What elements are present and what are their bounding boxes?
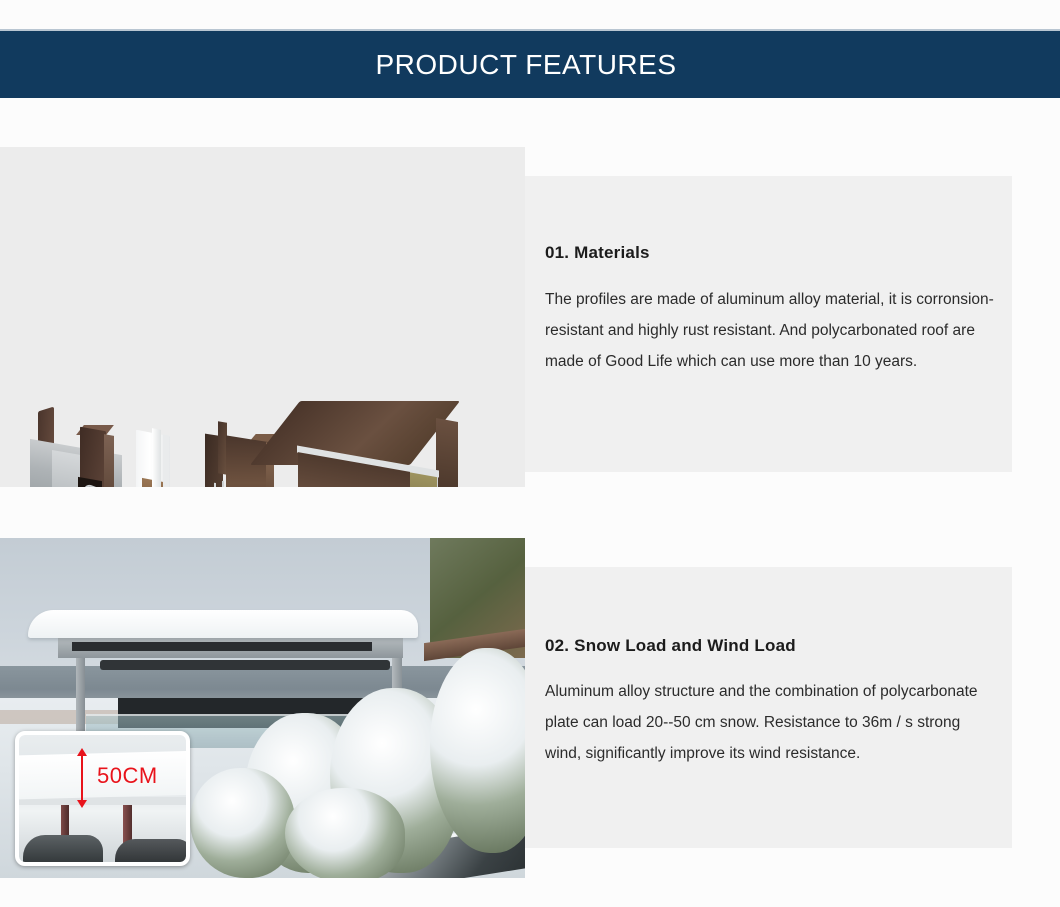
product-features-page: PRODUCT FEATURES: [0, 0, 1060, 907]
feature-2-heading: 02. Snow Load and Wind Load: [545, 636, 796, 656]
snow-depth-arrow-icon: [81, 755, 83, 801]
feature-1-body: The profiles are made of aluminum alloy …: [545, 284, 995, 377]
snow-covered-roof: [28, 610, 418, 638]
inset-photo: 50CM: [19, 735, 186, 862]
pergola-beam: [72, 642, 372, 651]
feature-1-heading: 01. Materials: [545, 243, 650, 263]
profile-sample-b-edge: [163, 434, 169, 487]
snow-depth-label: 50CM: [97, 763, 158, 789]
profile-sample-d-right: [436, 418, 458, 487]
snow-depth-inset: 50CM: [15, 731, 190, 866]
profile-sample-b-rib: [152, 428, 161, 487]
snowy-shrub: [285, 788, 405, 878]
feature-1-image: [0, 147, 525, 487]
feature-2-body: Aluminum alloy structure and the combina…: [545, 676, 1000, 769]
inset-car-left: [23, 835, 103, 862]
header-banner: PRODUCT FEATURES: [0, 31, 1060, 98]
page-title: PRODUCT FEATURES: [376, 49, 677, 81]
profile-sample-c-detail-2: [222, 481, 224, 487]
pergola-beam-secondary: [100, 660, 390, 670]
snowy-shrub: [190, 768, 295, 878]
feature-2-image: 50CM: [0, 538, 525, 878]
profile-sample-a-side: [104, 434, 114, 487]
inset-car-right: [115, 839, 186, 862]
